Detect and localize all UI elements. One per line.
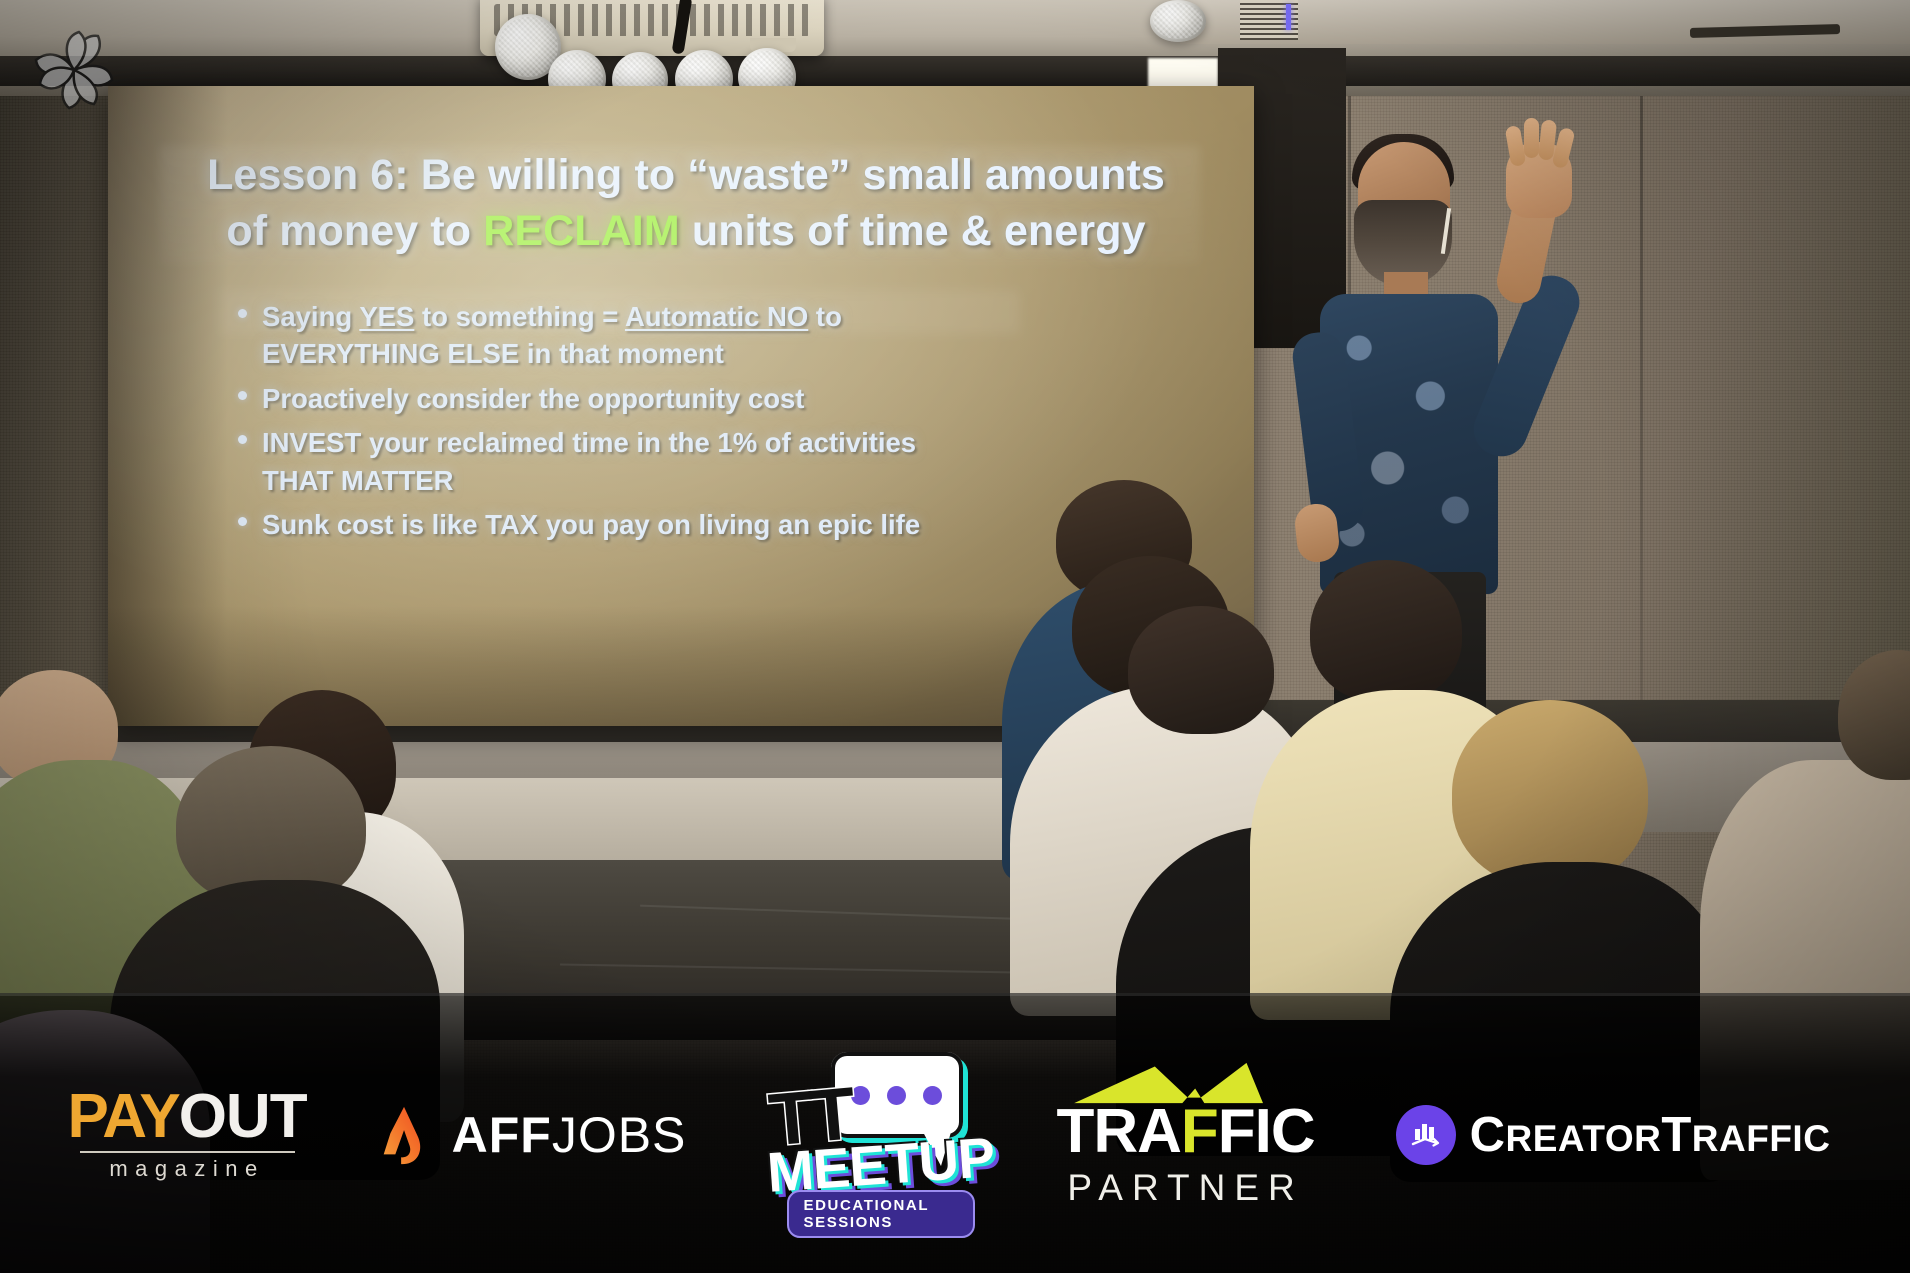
- slide-bullet-text: Saying YES to something = Automatic NO t…: [262, 298, 1098, 373]
- slide-bullet-text: INVEST your reclaimed time in the 1% of …: [262, 424, 1098, 499]
- projector-led-indicator: [1286, 4, 1291, 30]
- ct-raffic-text: RAFFIC: [1692, 1118, 1831, 1159]
- bullet-dot-icon: [228, 380, 262, 400]
- slide-title-line2-after: units of time & energy: [680, 207, 1146, 255]
- bubble-dot: [851, 1086, 870, 1105]
- footer-divider: [0, 993, 1910, 996]
- bullet-segment: to: [808, 301, 842, 332]
- slide-title-highlight: RECLAIM: [483, 207, 680, 255]
- bubble-dot: [887, 1086, 906, 1105]
- traffic-wordmark: TRAFFIC: [1055, 1101, 1317, 1163]
- bullet-segment: Proactively consider the opportunity cos…: [262, 383, 804, 414]
- slide-bullet-item: Saying YES to something = Automatic NO t…: [228, 298, 1098, 373]
- affjobs-aff-text: AFF: [452, 1107, 552, 1163]
- bullet-segment: INVEST your reclaimed time in the 1% of …: [262, 427, 916, 458]
- bullet-continuation-text: THAT MATTER: [262, 465, 453, 496]
- traffic-tra-text: TRA: [1056, 1097, 1180, 1166]
- bar-chart-arrow-icon: [1396, 1105, 1456, 1165]
- bullet-segment: Sunk cost is like TAX you pay on living …: [262, 509, 920, 540]
- bubble-dot: [923, 1086, 942, 1105]
- affjobs-wordmark: AFFJOBS: [452, 1106, 687, 1164]
- slide-bullet-item: Sunk cost is like TAX you pay on living …: [228, 506, 1098, 543]
- slide-title-line2-before: of money to: [226, 207, 483, 255]
- educational-sessions-badge: EDUCATIONAL SESSIONS: [787, 1190, 975, 1238]
- speaker-presenter: [1268, 132, 1598, 652]
- pendant-light: [1150, 0, 1206, 42]
- affjobs-jobs-text: JOBS: [552, 1107, 687, 1163]
- payout-pay-text: PAY: [68, 1088, 179, 1145]
- bullet-dot-icon: [228, 298, 262, 318]
- traffic-fic-text: FIC: [1218, 1097, 1315, 1166]
- flame-a-mark-icon: [374, 1104, 436, 1166]
- sponsor-tt-meetup[interactable]: TT MEETUP EDUCATIONAL SESSIONS: [765, 1050, 975, 1220]
- bullet-underlined-segment: Automatic NO: [625, 301, 808, 332]
- traffic-f-highlight: F: [1181, 1097, 1218, 1166]
- sponsor-affjobs[interactable]: AFFJOBS: [374, 1104, 687, 1166]
- creator-traffic-wordmark: CREATORTRAFFIC: [1470, 1107, 1831, 1163]
- bullet-dot-icon: [228, 424, 262, 444]
- slide-bullet-item: INVEST your reclaimed time in the 1% of …: [228, 424, 1098, 499]
- slide-bullet-item: Proactively consider the opportunity cos…: [228, 380, 1098, 417]
- bullet-segment: to something =: [414, 301, 625, 332]
- slide-bullet-text: Sunk cost is like TAX you pay on living …: [262, 506, 1098, 543]
- presentation-photo: Lesson 6: Be willing to “waste” small am…: [0, 0, 1910, 1273]
- slide-bullet-list: Saying YES to something = Automatic NO t…: [228, 298, 1098, 550]
- bullet-continuation-text: EVERYTHING ELSE in that moment: [262, 338, 724, 369]
- partner-text: PARTNER: [1055, 1167, 1317, 1209]
- slide-title-line1: Lesson 6: Be willing to “waste” small am…: [207, 151, 1165, 199]
- sponsor-payout-magazine[interactable]: PAYOUT magazine: [80, 1088, 295, 1181]
- sponsor-footer-bar: PAYOUT magazine: [0, 993, 1910, 1273]
- audience-head: [1452, 700, 1648, 886]
- bullet-underlined-segment: YES: [359, 301, 414, 332]
- bullet-dot-icon: [228, 506, 262, 526]
- audience-head: [1128, 606, 1274, 734]
- bullet-segment: Saying: [262, 301, 359, 332]
- ct-t-text: T: [1661, 1108, 1691, 1162]
- slide-bullet-text: Proactively consider the opportunity cos…: [262, 380, 1098, 417]
- ceiling-recess: [0, 56, 1910, 86]
- slide-title: Lesson 6: Be willing to “waste” small am…: [156, 148, 1216, 260]
- sponsor-logo-row: PAYOUT magazine: [0, 1015, 1910, 1255]
- ct-c-text: C: [1470, 1108, 1506, 1162]
- payout-magazine-text: magazine: [80, 1156, 295, 1182]
- ct-reator-text: REATOR: [1506, 1118, 1662, 1159]
- sponsor-traffic-partner[interactable]: TRAFFIC PARTNER: [1055, 1061, 1317, 1209]
- wall-seam: [1640, 96, 1643, 736]
- sponsor-creator-traffic[interactable]: CREATORTRAFFIC: [1396, 1105, 1831, 1165]
- speaker-finger: [1524, 118, 1539, 158]
- payout-out-text: OUT: [179, 1088, 307, 1145]
- audience-head: [1310, 560, 1462, 702]
